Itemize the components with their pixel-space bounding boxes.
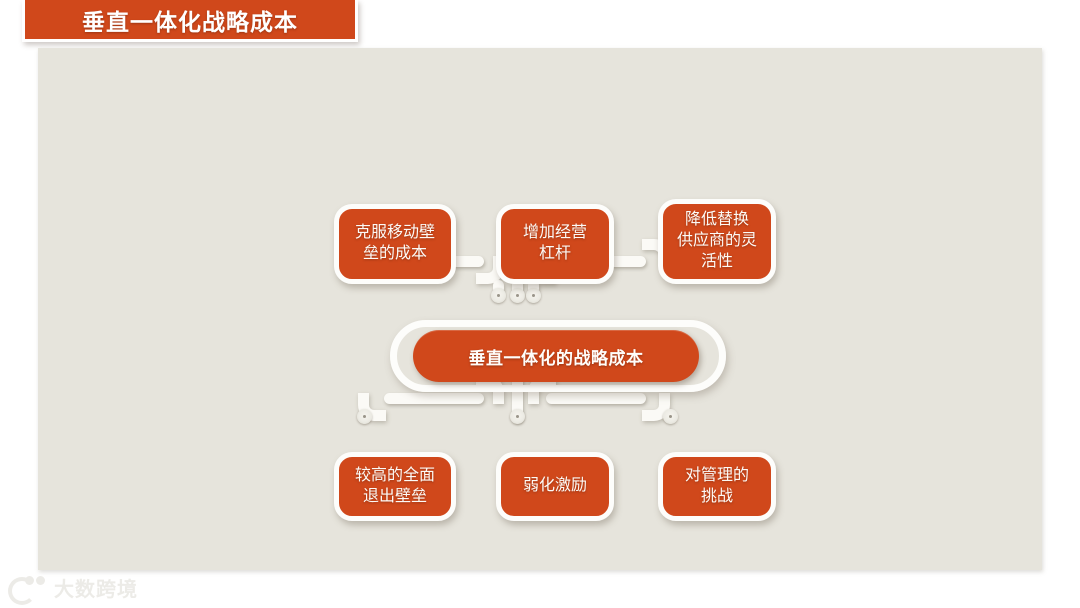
diagram-node-label: 对管理的 挑战: [681, 466, 753, 508]
connector-h-bottom-left: [384, 393, 484, 404]
watermark: 大数跨境: [8, 570, 188, 604]
connector-node-ring-top-right: [526, 288, 541, 303]
diagram-node-top-2[interactable]: 增加经营 杠杆: [496, 204, 614, 284]
connector-node-ring-top-center: [510, 288, 525, 303]
diagram-node-bottom-1[interactable]: 较高的全面 退出壁垒: [334, 452, 456, 521]
connector-h-bottom-right: [546, 393, 646, 404]
diagram-node-bottom-2[interactable]: 弱化激励: [496, 452, 614, 521]
brand-logo-icon: [8, 575, 48, 599]
slide-title-banner: 垂直一体化战略成本: [22, 0, 358, 42]
diagram-node-bottom-3[interactable]: 对管理的 挑战: [658, 452, 776, 521]
diagram-node-label: 较高的全面 退出壁垒: [351, 466, 439, 508]
connector-node-ring-top-left: [491, 288, 506, 303]
diagram-node-top-3[interactable]: 降低替换 供应商的灵 活性: [658, 199, 776, 284]
page-title: 垂直一体化战略成本: [82, 3, 298, 37]
diagram-stage: 垂直一体化的战略成本 克服移动壁 垒的成本 增加经营 杠杆 降低替换 供应商的灵…: [38, 48, 1042, 570]
center-node-label: 垂直一体化的战略成本: [469, 344, 644, 369]
connector-node-bottom-left: [357, 409, 372, 424]
connector-node-bottom-right: [663, 409, 678, 424]
diagram-node-label: 弱化激励: [519, 476, 591, 497]
diagram-node-label: 增加经营 杠杆: [519, 223, 591, 265]
diagram-node-top-1[interactable]: 克服移动壁 垒的成本: [334, 204, 456, 284]
center-node[interactable]: 垂直一体化的战略成本: [413, 330, 699, 382]
watermark-text: 大数跨境: [54, 573, 138, 602]
connector-node-bottom-center: [510, 409, 525, 424]
diagram-node-label: 克服移动壁 垒的成本: [351, 223, 439, 265]
diagram-node-label: 降低替换 供应商的灵 活性: [673, 210, 761, 272]
